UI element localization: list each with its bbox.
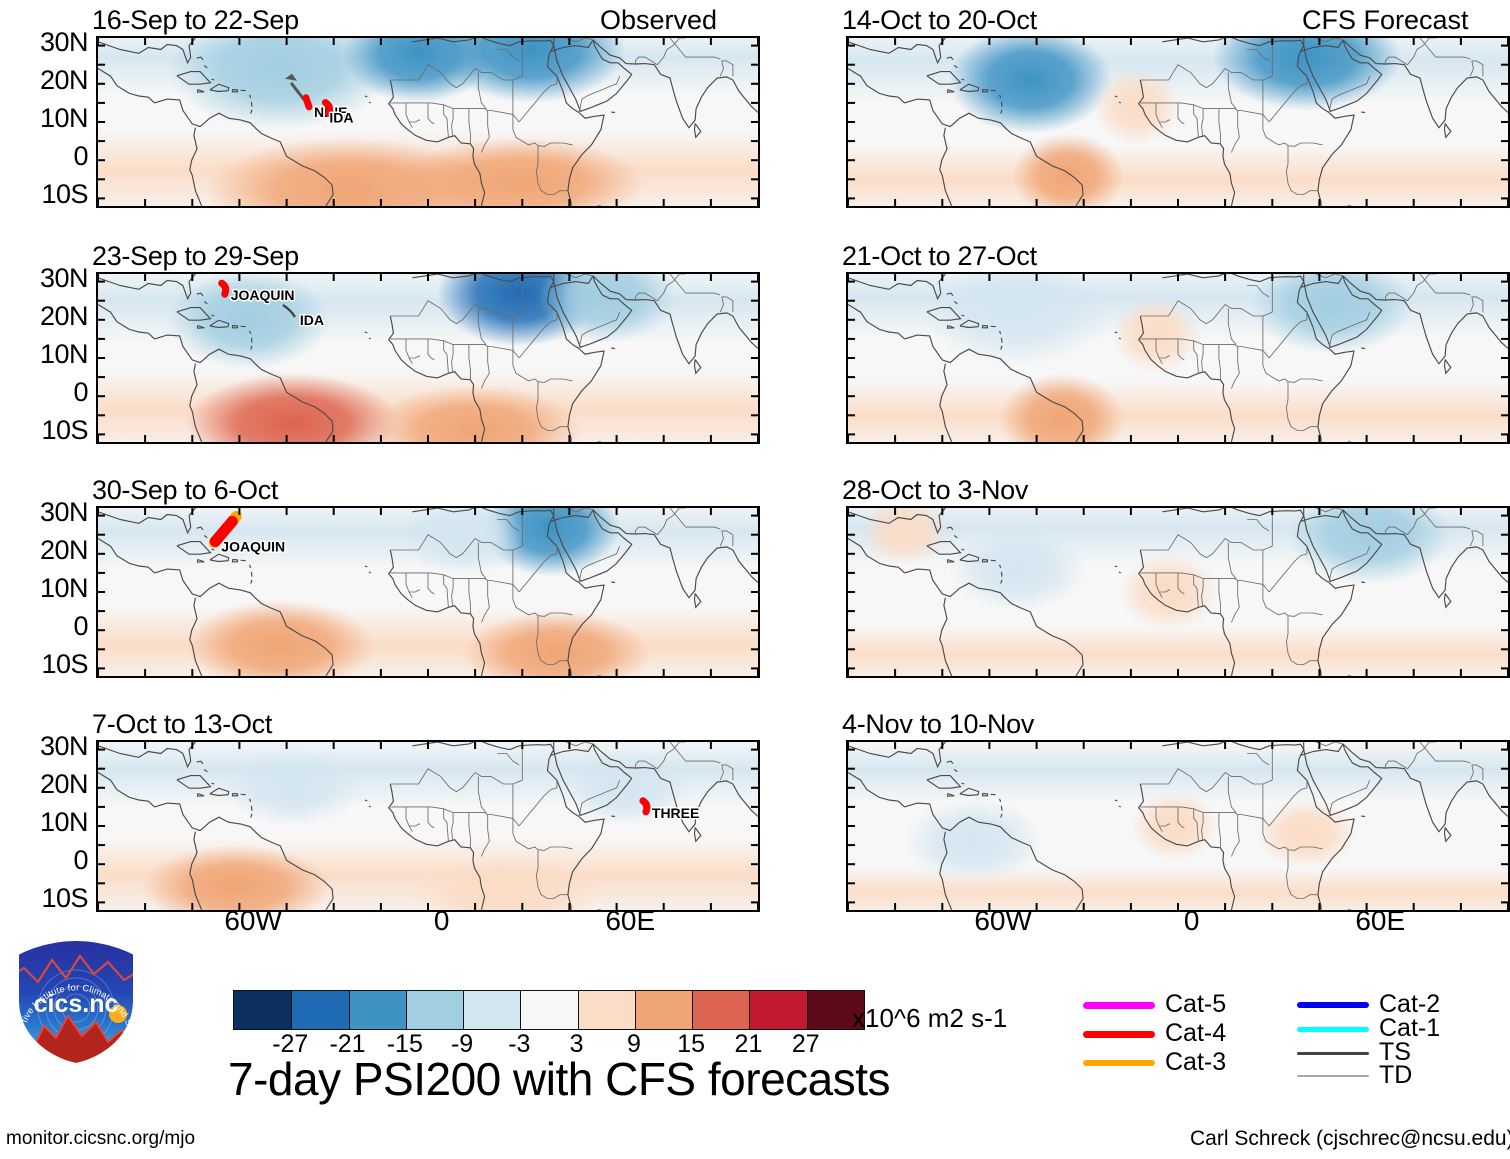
x-ticklabel: 60W [943, 905, 1063, 937]
y-ticklabel: 20N [0, 535, 88, 566]
author-credit: Carl Schreck (cjschrec@ncsu.edu) [1190, 1127, 1510, 1151]
y-ticklabel: 10N [0, 103, 88, 134]
y-ticklabel: 20N [0, 65, 88, 96]
legend-label-cat-5: Cat-5 [1165, 990, 1226, 1019]
y-ticklabel: 30N [0, 263, 88, 294]
y-ticklabel: 0 [0, 141, 88, 172]
colorbar-segment [692, 991, 749, 1029]
x-ticklabel: 60E [1320, 905, 1440, 937]
legend-label-cat-4: Cat-4 [1165, 1019, 1226, 1048]
panel-title-obs-3: 30-Sep to 6-Oct [92, 475, 278, 506]
map-panel-cfs-3 [846, 506, 1510, 678]
legend-label-td: TD [1379, 1061, 1412, 1090]
x-ticklabel: 0 [382, 905, 502, 937]
map-panel-cfs-4 [846, 740, 1510, 912]
y-ticklabel: 20N [0, 301, 88, 332]
panel-title-cfs-3: 28-Oct to 3-Nov [842, 475, 1028, 506]
y-ticklabel: 30N [0, 497, 88, 528]
legend-swatch-cat-2 [1297, 1002, 1369, 1008]
y-ticklabel: 30N [0, 27, 88, 58]
colorbar-segment [234, 991, 291, 1029]
y-ticklabel: 10S [0, 883, 88, 914]
legend-swatch-cat-1 [1297, 1027, 1369, 1032]
y-ticklabel: 10S [0, 415, 88, 446]
legend-swatch-td [1297, 1075, 1369, 1077]
colorbar-segment [349, 991, 406, 1029]
svg-text:IDA: IDA [300, 312, 324, 328]
panel-title-obs-4: 7-Oct to 13-Oct [92, 709, 272, 740]
panel-title-obs-2: 23-Sep to 29-Sep [92, 241, 299, 272]
panel-title-obs-1: 16-Sep to 22-Sep [92, 5, 299, 36]
map-panel-cfs-1 [846, 36, 1510, 208]
legend-label-cat-3: Cat-3 [1165, 1048, 1226, 1077]
column-header-observed: Observed [600, 5, 717, 36]
colorbar-segment [749, 991, 806, 1029]
panel-title-cfs-4: 4-Nov to 10-Nov [842, 709, 1034, 740]
map-panel-obs-4: THREE [96, 740, 760, 912]
svg-text:THREE: THREE [652, 805, 699, 821]
y-ticklabel: 10N [0, 573, 88, 604]
y-ticklabel: 0 [0, 377, 88, 408]
colorbar-segment [291, 991, 348, 1029]
column-header-cfs-forecast: CFS Forecast [1302, 5, 1469, 36]
y-ticklabel: 30N [0, 731, 88, 762]
panel-title-cfs-2: 21-Oct to 27-Oct [842, 241, 1037, 272]
colorbar-segment [578, 991, 635, 1029]
footer-url: monitor.cicsnc.org/mjo [6, 1128, 195, 1150]
legend-swatch-cat-3 [1083, 1060, 1155, 1066]
cics-nc-logo: Cooperative Institute for Climate and Sa… [12, 938, 140, 1066]
colorbar-segment [635, 991, 692, 1029]
y-ticklabel: 10N [0, 807, 88, 838]
y-ticklabel: 0 [0, 845, 88, 876]
x-ticklabel: 60E [570, 905, 690, 937]
svg-text:IDA: IDA [329, 110, 353, 126]
legend-swatch-cat-4 [1083, 1031, 1155, 1038]
map-panel-obs-1: NINEIDA [96, 36, 760, 208]
legend-swatch-ts [1297, 1052, 1369, 1055]
logo-wordmark: cics.nc [34, 990, 119, 1018]
legend-swatch-cat-5 [1083, 1002, 1155, 1009]
colorbar-units-label: x10^6 m2 s-1 [852, 1003, 1007, 1034]
colorbar-segment [463, 991, 520, 1029]
map-panel-obs-3: JOAQUIN [96, 506, 760, 678]
colorbar [233, 990, 865, 1030]
colorbar-segment [520, 991, 577, 1029]
x-ticklabel: 0 [1132, 905, 1252, 937]
colorbar-segment [406, 991, 463, 1029]
svg-text:JOAQUIN: JOAQUIN [221, 538, 285, 554]
main-title: 7-day PSI200 with CFS forecasts [228, 1052, 890, 1106]
map-panel-cfs-2 [846, 272, 1510, 444]
y-ticklabel: 0 [0, 611, 88, 642]
y-ticklabel: 10S [0, 179, 88, 210]
panel-title-cfs-1: 14-Oct to 20-Oct [842, 5, 1037, 36]
y-ticklabel: 10N [0, 339, 88, 370]
svg-text:JOAQUIN: JOAQUIN [231, 287, 295, 303]
x-ticklabel: 60W [193, 905, 313, 937]
y-ticklabel: 20N [0, 769, 88, 800]
y-ticklabel: 10S [0, 649, 88, 680]
map-panel-obs-2: JOAQUINIDA [96, 272, 760, 444]
